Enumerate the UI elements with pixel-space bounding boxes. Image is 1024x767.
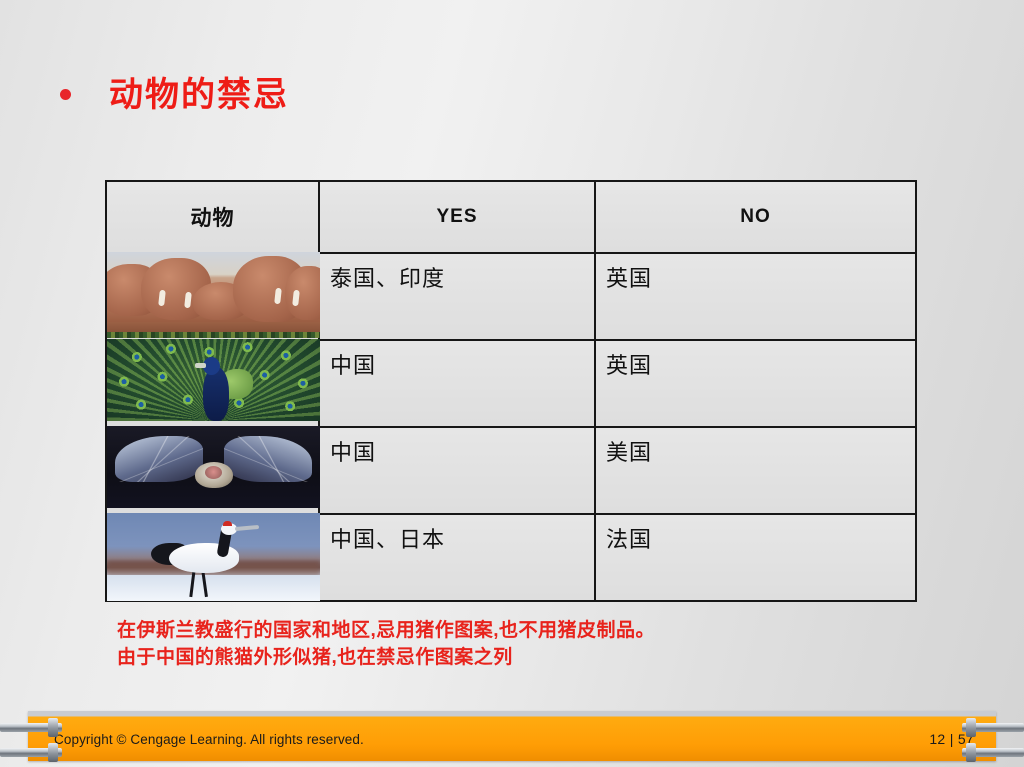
cell-animal-image [106, 427, 319, 514]
cell-no: 英国 [595, 340, 916, 427]
bolt-icon-left-top [0, 723, 62, 732]
elephant-photo [107, 252, 320, 338]
bolt-icon-right-top [962, 723, 1024, 732]
title-text: 动物的禁忌 [109, 78, 289, 112]
cell-animal-image [106, 253, 319, 340]
copyright-text: Copyright © Cengage Learning. All rights… [54, 732, 364, 747]
cell-yes: 中国、日本 [319, 514, 595, 601]
cell-no: 英国 [595, 253, 916, 340]
animal-taboo-table-wrap: 动物 YES NO [105, 180, 915, 602]
crane-photo [107, 513, 320, 601]
cell-no: 美国 [595, 427, 916, 514]
animal-taboo-table: 动物 YES NO [105, 180, 917, 602]
page-title: 动物的禁忌 [60, 78, 289, 112]
column-header-yes: YES [319, 181, 595, 253]
cell-yes: 中国 [319, 427, 595, 514]
footnote-line-1: 在伊斯兰教盛行的国家和地区,忌用猪作图案,也不用猪皮制品。 [117, 618, 655, 645]
footnote-line-2: 由于中国的熊猫外形似猪,也在禁忌作图案之列 [117, 645, 655, 672]
cell-yes: 泰国、印度 [319, 253, 595, 340]
bat-photo [107, 426, 320, 508]
column-header-animal: 动物 [106, 181, 319, 253]
cell-animal-image [106, 340, 319, 427]
cell-animal-image [106, 514, 319, 601]
cell-yes: 中国 [319, 340, 595, 427]
column-header-no: NO [595, 181, 916, 253]
table-row: 中国、日本 法国 [106, 514, 916, 601]
table-row: 中国 美国 [106, 427, 916, 514]
footer-bar: Copyright © Cengage Learning. All rights… [28, 711, 996, 761]
bullet-icon [60, 89, 71, 100]
table-row: 泰国、印度 英国 [106, 253, 916, 340]
footnote: 在伊斯兰教盛行的国家和地区,忌用猪作图案,也不用猪皮制品。 由于中国的熊猫外形似… [117, 618, 655, 672]
peacock-photo [107, 339, 320, 421]
table-row: 中国 英国 [106, 340, 916, 427]
bolt-icon-right-bottom [962, 748, 1024, 757]
table-header-row: 动物 YES NO [106, 181, 916, 253]
bolt-icon-left-bottom [0, 748, 62, 757]
cell-no: 法国 [595, 514, 916, 601]
slide: 动物的禁忌 动物 YES NO [0, 0, 1024, 767]
